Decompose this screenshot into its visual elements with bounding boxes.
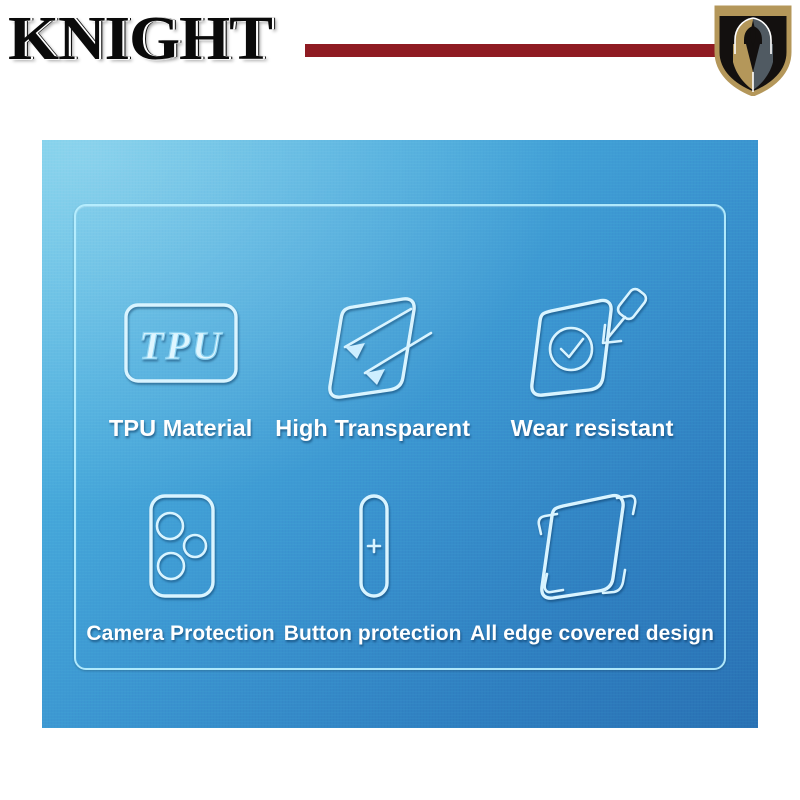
tpu-badge-text: TPU	[139, 323, 223, 368]
brand-wordmark: KNIGHT	[8, 8, 272, 70]
feature-panel: TPU TPU Material	[42, 140, 758, 728]
tpu-badge-icon: TPU	[120, 283, 242, 403]
feature-label-wear-resistant: Wear resistant	[511, 415, 674, 441]
screwdriver-shield-phone-icon	[525, 283, 659, 403]
feature-label-high-transparent: High Transparent	[275, 415, 470, 441]
feature-grid: TPU TPU Material	[86, 236, 714, 646]
feature-item-button-protection: Button protection	[275, 441, 470, 646]
feature-label-button-protection: Button protection	[284, 622, 462, 646]
feature-label-all-edge-covered: All edge covered design	[470, 622, 714, 646]
product-feature-banner: KNIGHT	[0, 0, 800, 800]
vegas-golden-knights-shield-icon	[713, 4, 793, 96]
brand-header: KNIGHT	[0, 0, 800, 100]
corner-brackets-phone-icon	[527, 484, 657, 610]
feature-item-wear-resistant: Wear resistant	[470, 236, 714, 441]
feature-item-all-edge-covered: All edge covered design	[470, 441, 714, 646]
feature-label-camera-protection: Camera Protection	[86, 622, 274, 646]
header-rule-divider	[305, 44, 752, 57]
feature-label-tpu-material: TPU Material	[109, 415, 253, 441]
triple-camera-lens-icon	[129, 484, 233, 610]
side-button-icon	[333, 484, 413, 610]
feature-item-tpu-material: TPU TPU Material	[86, 236, 275, 441]
light-through-phone-icon	[307, 283, 439, 403]
feature-item-camera-protection: Camera Protection	[86, 441, 275, 646]
feature-item-high-transparent: High Transparent	[275, 236, 470, 441]
